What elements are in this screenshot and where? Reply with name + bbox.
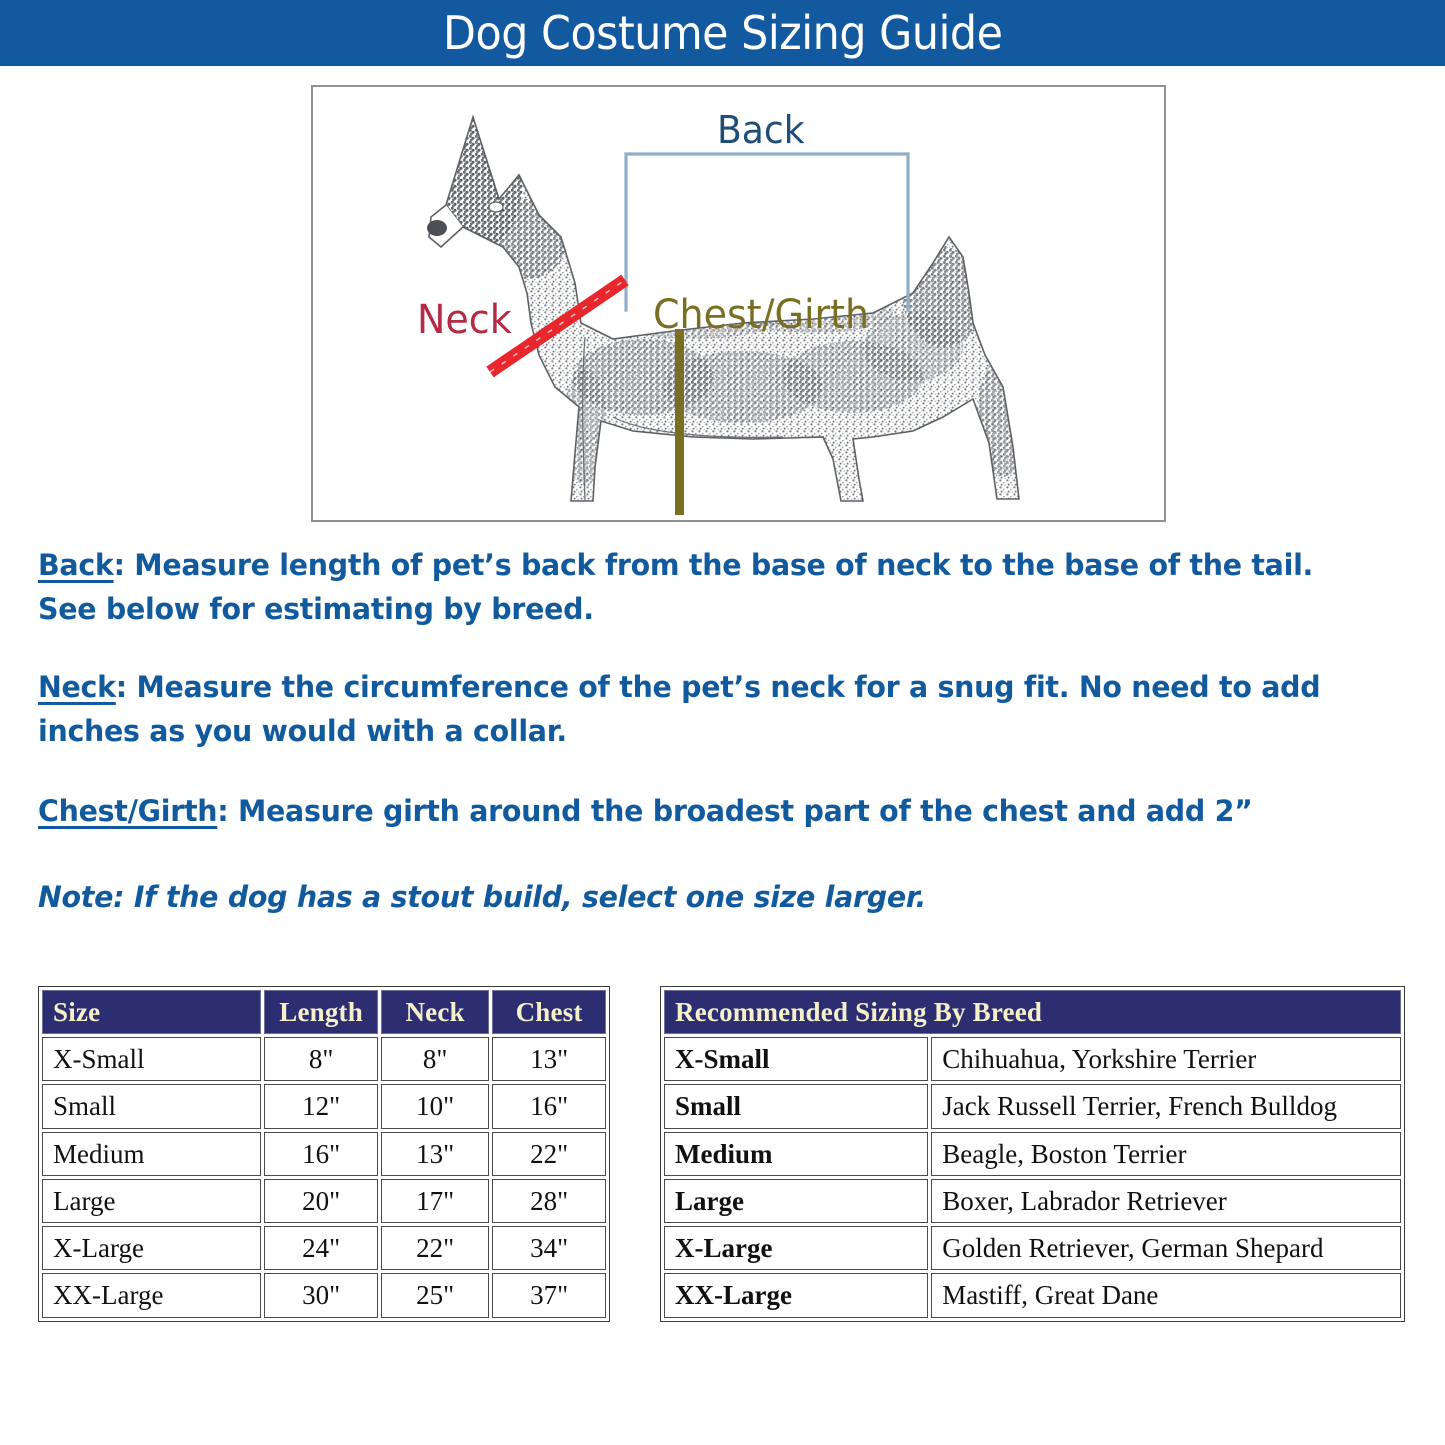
instruction-sep-chest-girth: : <box>217 794 238 828</box>
recommended-sizing-by-breed-table: Recommended Sizing By Breed X-Small Chih… <box>661 987 1404 1321</box>
table-row: Large 20" 17" 28" <box>42 1179 606 1223</box>
table-row: X-Large 24" 22" 34" <box>42 1226 606 1270</box>
table-row: Small Jack Russell Terrier, French Bulld… <box>664 1084 1401 1128</box>
cell-length: 8" <box>264 1037 378 1081</box>
cell-breeds: Golden Retriever, German Shepard <box>931 1226 1401 1270</box>
cell-breeds: Boxer, Labrador Retriever <box>931 1179 1401 1223</box>
diagram-label-chest-girth: Chest/Girth <box>653 295 869 335</box>
instruction-chest-girth: Chest/Girth: Measure girth around the br… <box>38 789 1370 833</box>
size-measurements-table-container: Size Length Neck Chest X-Small 8" 8" 13"… <box>38 986 610 1322</box>
instruction-back: Back: Measure length of pet’s back from … <box>38 543 1370 631</box>
cell-chest: 16" <box>492 1084 606 1128</box>
page-title: Dog Costume Sizing Guide <box>443 10 1002 56</box>
instruction-sep-back: : <box>114 548 135 582</box>
cell-length: 16" <box>264 1132 378 1176</box>
cell-breeds: Mastiff, Great Dane <box>931 1273 1401 1317</box>
table-row: Large Boxer, Labrador Retriever <box>664 1179 1401 1223</box>
column-header-size: Size <box>42 990 261 1034</box>
breed-table-title: Recommended Sizing By Breed <box>664 990 1401 1034</box>
cell-neck: 17" <box>381 1179 489 1223</box>
cell-length: 12" <box>264 1084 378 1128</box>
table-row: X-Large Golden Retriever, German Shepard <box>664 1226 1401 1270</box>
cell-breeds: Jack Russell Terrier, French Bulldog <box>931 1084 1401 1128</box>
cell-neck: 13" <box>381 1132 489 1176</box>
instruction-term-back: Back <box>38 548 114 582</box>
cell-size: Large <box>42 1179 261 1223</box>
cell-neck: 22" <box>381 1226 489 1270</box>
column-header-length: Length <box>264 990 378 1034</box>
instruction-term-note: Note <box>38 880 113 914</box>
column-header-chest: Chest <box>492 990 606 1034</box>
instruction-body-back: Measure length of pet’s back from the ba… <box>38 548 1313 626</box>
diagram-panel: Back Chest/Girth Neck <box>311 85 1166 522</box>
cell-length: 24" <box>264 1226 378 1270</box>
cell-size: X-Small <box>42 1037 261 1081</box>
instruction-note: Note: If the dog has a stout build, sele… <box>38 875 1370 919</box>
cell-breeds: Beagle, Boston Terrier <box>931 1132 1401 1176</box>
instructions-block: Back: Measure length of pet’s back from … <box>38 543 1418 919</box>
cell-size: XX-Large <box>42 1273 261 1317</box>
cell-neck: 25" <box>381 1273 489 1317</box>
instruction-body-note: If the dog has a stout build, select one… <box>134 880 926 914</box>
cell-size: Small <box>664 1084 928 1128</box>
cell-size: X-Large <box>664 1226 928 1270</box>
instruction-neck: Neck: Measure the circumference of the p… <box>38 665 1370 753</box>
cell-size: Large <box>664 1179 928 1223</box>
cell-size: X-Large <box>42 1226 261 1270</box>
size-measurements-table: Size Length Neck Chest X-Small 8" 8" 13"… <box>39 987 609 1321</box>
cell-length: 30" <box>264 1273 378 1317</box>
diagram-label-back: Back <box>717 111 805 149</box>
table-row: XX-Large Mastiff, Great Dane <box>664 1273 1401 1317</box>
cell-size: Small <box>42 1084 261 1128</box>
cell-size: X-Small <box>664 1037 928 1081</box>
cell-chest: 13" <box>492 1037 606 1081</box>
header-banner: Dog Costume Sizing Guide <box>0 0 1445 66</box>
table-row: X-Small 8" 8" 13" <box>42 1037 606 1081</box>
table-header-row: Recommended Sizing By Breed <box>664 990 1401 1034</box>
cell-chest: 22" <box>492 1132 606 1176</box>
column-header-neck: Neck <box>381 990 489 1034</box>
diagram-label-neck: Neck <box>417 300 512 340</box>
cell-neck: 8" <box>381 1037 489 1081</box>
cell-size: Medium <box>664 1132 928 1176</box>
cell-breeds: Chihuahua, Yorkshire Terrier <box>931 1037 1401 1081</box>
table-row: Medium Beagle, Boston Terrier <box>664 1132 1401 1176</box>
table-row: X-Small Chihuahua, Yorkshire Terrier <box>664 1037 1401 1081</box>
cell-size: XX-Large <box>664 1273 928 1317</box>
cell-chest: 37" <box>492 1273 606 1317</box>
cell-chest: 28" <box>492 1179 606 1223</box>
instruction-sep-note: : <box>113 880 134 914</box>
instruction-body-chest-girth: Measure girth around the broadest part o… <box>238 794 1253 828</box>
instruction-sep-neck: : <box>116 670 137 704</box>
instruction-term-chest-girth: Chest/Girth <box>38 794 217 828</box>
table-header-row: Size Length Neck Chest <box>42 990 606 1034</box>
table-row: Medium 16" 13" 22" <box>42 1132 606 1176</box>
cell-chest: 34" <box>492 1226 606 1270</box>
cell-length: 20" <box>264 1179 378 1223</box>
table-row: XX-Large 30" 25" 37" <box>42 1273 606 1317</box>
breed-table-container: Recommended Sizing By Breed X-Small Chih… <box>660 986 1405 1322</box>
table-row: Small 12" 10" 16" <box>42 1084 606 1128</box>
cell-size: Medium <box>42 1132 261 1176</box>
cell-neck: 10" <box>381 1084 489 1128</box>
instruction-body-neck: Measure the circumference of the pet’s n… <box>38 670 1320 748</box>
instruction-term-neck: Neck <box>38 670 116 704</box>
